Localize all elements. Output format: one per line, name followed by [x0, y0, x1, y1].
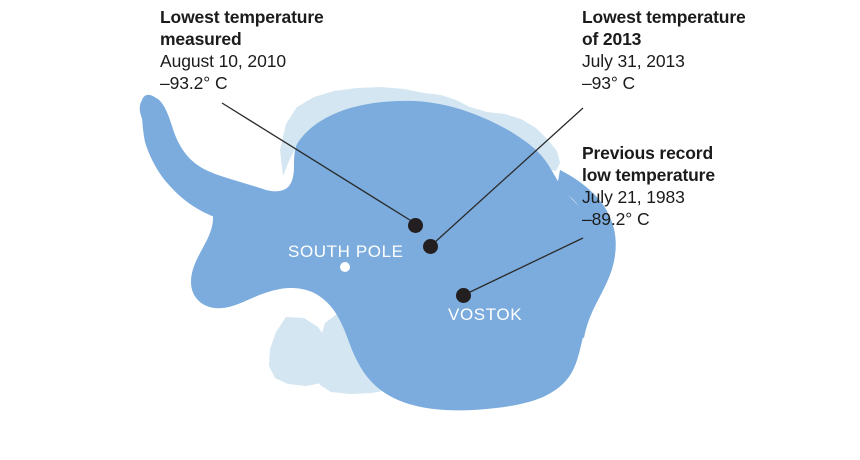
callout-date: July 21, 1983	[582, 186, 715, 208]
callout-heading-line2: of 2013	[582, 28, 746, 50]
marker-lowest-temperature-measured[interactable]	[408, 218, 423, 233]
callout-heading-line1: Previous record	[582, 142, 715, 164]
antarctic-peninsula	[141, 95, 260, 225]
callout-temperature: –93.2° C	[160, 72, 324, 94]
callout-heading-line2: low temperature	[582, 164, 715, 186]
callout-heading-line1: Lowest temperature	[160, 6, 324, 28]
callout-lowest-temperature-measured: Lowest temperature measured August 10, 2…	[160, 6, 324, 94]
callout-temperature: –89.2° C	[582, 208, 715, 230]
callout-heading-line2: measured	[160, 28, 324, 50]
map-label-vostok: VOSTOK	[448, 305, 522, 325]
ice-shelf-ross	[269, 317, 332, 386]
marker-vostok[interactable]	[456, 288, 471, 303]
callout-lowest-temperature-2013: Lowest temperature of 2013 July 31, 2013…	[582, 6, 746, 94]
callout-date: August 10, 2010	[160, 50, 324, 72]
marker-south-pole[interactable]	[340, 262, 350, 272]
map-label-south-pole: SOUTH POLE	[288, 242, 404, 262]
marker-lowest-temperature-2013[interactable]	[423, 239, 438, 254]
callout-temperature: –93° C	[582, 72, 746, 94]
callout-heading-line1: Lowest temperature	[582, 6, 746, 28]
callout-previous-record-low: Previous record low temperature July 21,…	[582, 142, 715, 230]
infographic-canvas: SOUTH POLE VOSTOK Lowest temperature mea…	[0, 0, 860, 460]
callout-date: July 31, 2013	[582, 50, 746, 72]
